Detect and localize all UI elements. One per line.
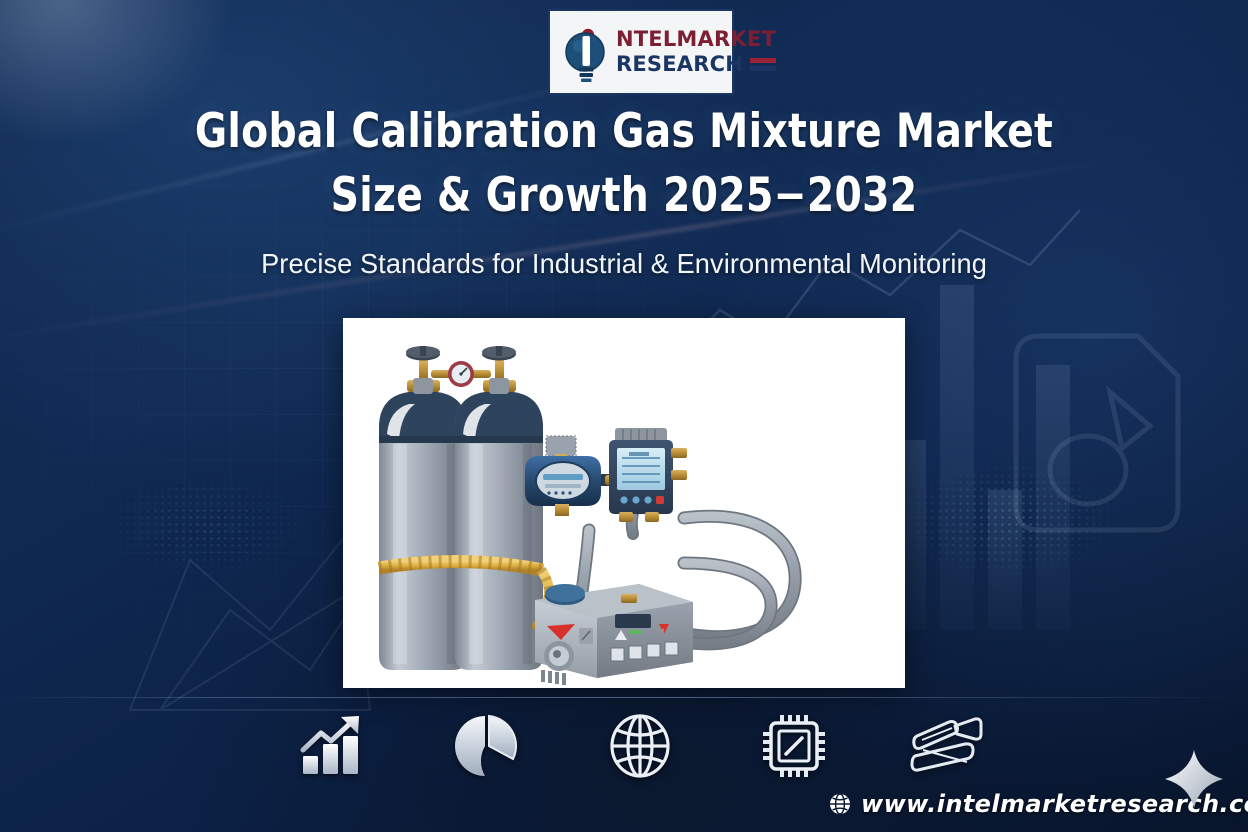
globe-icon[interactable] (592, 705, 688, 787)
background-polygon-decoration (120, 520, 380, 720)
poster-canvas: NTELMARKET RESEARCH Global Calibration G… (0, 0, 1248, 832)
gas-cylinder-right (455, 378, 543, 670)
growth-chart-icon[interactable] (285, 705, 381, 787)
lightbulb-i-icon (558, 19, 614, 85)
background-hexagon-decoration (1010, 330, 1190, 540)
logo-wordmark: NTELMARKET RESEARCH (616, 29, 776, 75)
industrial-tools-icon[interactable] (899, 705, 995, 787)
analyzer-control-box: ! (535, 584, 693, 685)
brand-logo[interactable]: NTELMARKET RESEARCH (548, 9, 734, 95)
digital-controller-unit (609, 428, 687, 522)
flag-bars-icon (750, 58, 776, 71)
title-line-2: Size & Growth 2025−2032 (44, 164, 1205, 228)
logo-bottom-text: RESEARCH (616, 54, 743, 75)
calibration-gas-system-illustration: ! (343, 318, 905, 688)
globe-icon (828, 792, 852, 816)
pie-chart-icon[interactable] (439, 705, 535, 787)
four-point-star-icon (1163, 748, 1225, 810)
background-world-map-dots-left (40, 430, 340, 620)
gas-cylinder-left (379, 378, 467, 670)
microchip-icon[interactable] (746, 705, 842, 787)
logo-top-text: NTELMARKET (616, 29, 776, 50)
page-title: Global Calibration Gas Mixture Market Si… (44, 100, 1205, 228)
band-divider (0, 697, 1248, 698)
title-line-1: Global Calibration Gas Mixture Market (195, 104, 1053, 159)
page-subtitle: Precise Standards for Industrial & Envir… (19, 248, 1230, 280)
background-world-map-dots-right (880, 430, 1200, 630)
hero-image-panel: ! (343, 318, 905, 688)
feature-icon-strip (285, 703, 995, 789)
